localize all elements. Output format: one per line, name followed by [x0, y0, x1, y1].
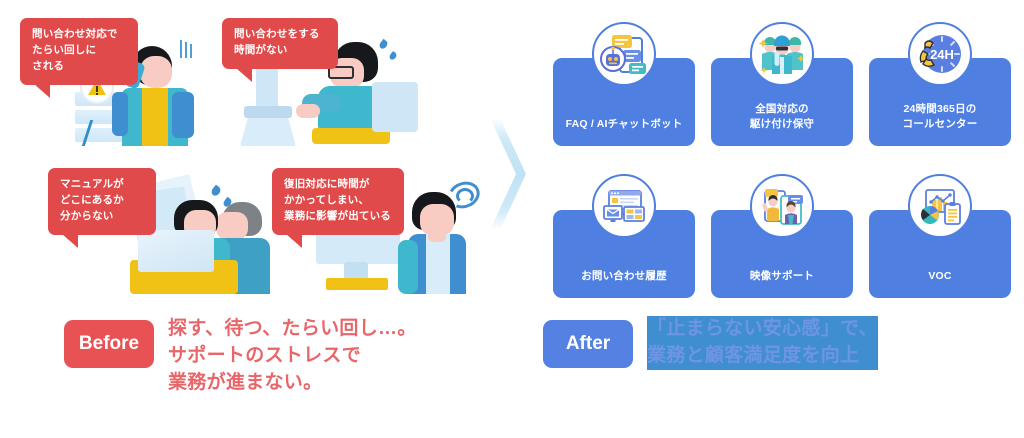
dashboard-history-icon: [592, 174, 656, 238]
speech-bubble: 問い合わせ対応で たらい回しに される: [20, 18, 138, 85]
chevron-right-icon: [489, 116, 529, 232]
card-call-center[interactable]: 24H 24時間365日の コールセンター: [869, 58, 1011, 146]
card-inquiry-log[interactable]: お問い合わせ履歴: [553, 210, 695, 298]
legend-before: Before 探す、待つ、たらい回し…。 サポートのストレスで 業務が進まない。: [64, 320, 417, 397]
after-badge: After: [543, 320, 633, 368]
analytics-report-icon: [908, 174, 972, 238]
clock-24h-phone-icon: 24H: [908, 22, 972, 86]
legend-after: After 「止まらない安心感」で、 業務と顧客満足度を向上: [543, 320, 878, 370]
card-label: FAQ / AIチャットボット: [566, 117, 683, 132]
card-label: お問い合わせ履歴: [581, 269, 667, 284]
card-nationwide[interactable]: 全国対応の 駆け付け保守: [711, 58, 853, 146]
speech-bubble: マニュアルが どこにあるか 分からない: [48, 168, 156, 235]
scene-phone-runaround: 問い合わせ対応で たらい回しに される: [20, 18, 220, 148]
clock-24h-label: 24H: [930, 47, 954, 62]
card-video-support[interactable]: 映像サポート: [711, 210, 853, 298]
field-engineers-icon: [750, 22, 814, 86]
before-badge: Before: [64, 320, 154, 368]
card-label: VOC: [928, 269, 951, 284]
card-label: 映像サポート: [750, 269, 814, 284]
person-thinking-icon: [398, 186, 494, 294]
card-faq-chatbot[interactable]: FAQ / AIチャットボット: [553, 58, 695, 146]
chatbot-icon: [592, 22, 656, 86]
speech-bubble: 復旧対応に時間が かかってしまい、 業務に影響が出ている: [272, 168, 404, 235]
scene-no-time: 問い合わせをする 時間がない: [222, 18, 422, 148]
scene-manual-missing: マニュアルが どこにあるか 分からない: [48, 168, 278, 294]
infographic-root: 問い合わせ対応で たらい回しに される: [0, 0, 1024, 438]
card-label: 24時間365日の コールセンター: [903, 102, 978, 132]
before-description: 探す、待つ、たらい回し…。 サポートのストレスで 業務が進まない。: [168, 316, 417, 397]
after-description: 「止まらない安心感」で、 業務と顧客満足度を向上: [647, 316, 878, 370]
card-label: 全国対応の 駆け付け保守: [750, 102, 814, 132]
card-voc[interactable]: VOC: [869, 210, 1011, 298]
speech-bubble: 問い合わせをする 時間がない: [222, 18, 338, 69]
box: [138, 230, 214, 272]
scene-recovery-delay: 復旧対応に時間が かかってしまい、 業務に影響が出ている: [272, 168, 492, 294]
video-support-icon: [750, 174, 814, 238]
